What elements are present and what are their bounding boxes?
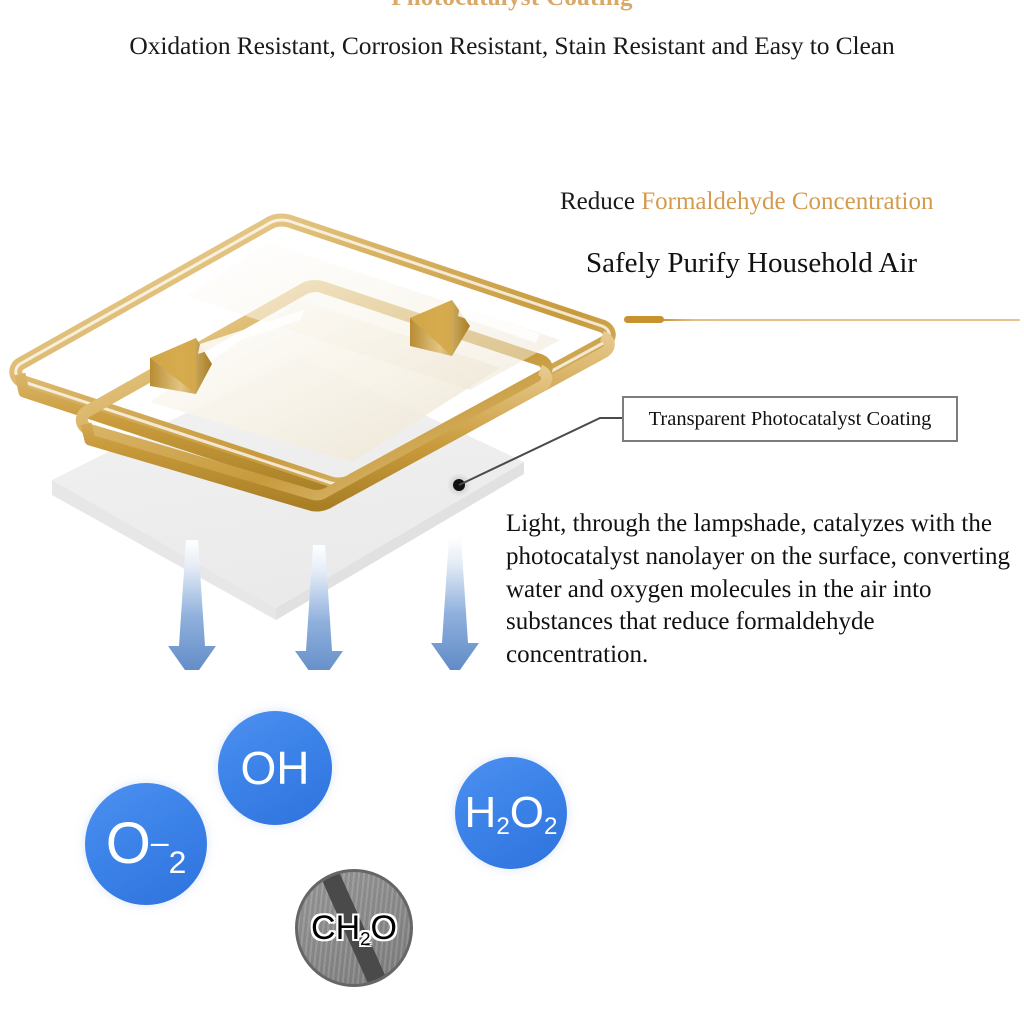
clipped-top-headline: Photocatalyst Coating <box>0 0 1024 12</box>
molecule-bubble-oh: OH <box>218 711 332 825</box>
coating-label-box: Transparent Photocatalyst Coating <box>622 396 958 442</box>
formaldehyde-keyword: Formaldehyde Concentration <box>641 188 933 215</box>
molecule-formula-oh: OH <box>241 745 310 791</box>
coating-label-text: Transparent Photocatalyst Coating <box>649 408 932 431</box>
gold-pointer-cap <box>624 316 664 323</box>
page-title: Oxidation Resistant, Corrosion Resistant… <box>0 31 1024 61</box>
molecule-formula-ch2o: CH2O <box>311 911 397 945</box>
reduce-prefix-text: Reduce <box>560 188 641 215</box>
molecule-bubble-h2o2: H2O2 <box>455 757 567 869</box>
reduce-headline: Reduce Formaldehyde Concentration <box>560 189 934 214</box>
molecule-formula-h2o2: H2O2 <box>465 791 558 835</box>
molecule-bubble-ch2o-blocked: CH2O <box>295 869 413 987</box>
purify-headline: Safely Purify Household Air <box>586 249 917 278</box>
infographic-canvas: Photocatalyst Coating Oxidation Resistan… <box>0 0 1024 1024</box>
molecule-bubble-o2: O–2 <box>85 783 207 905</box>
description-paragraph: Light, through the lampshade, catalyzes … <box>506 508 1012 672</box>
gold-pointer-line <box>624 319 1020 321</box>
molecule-formula-o2: O–2 <box>106 815 187 873</box>
